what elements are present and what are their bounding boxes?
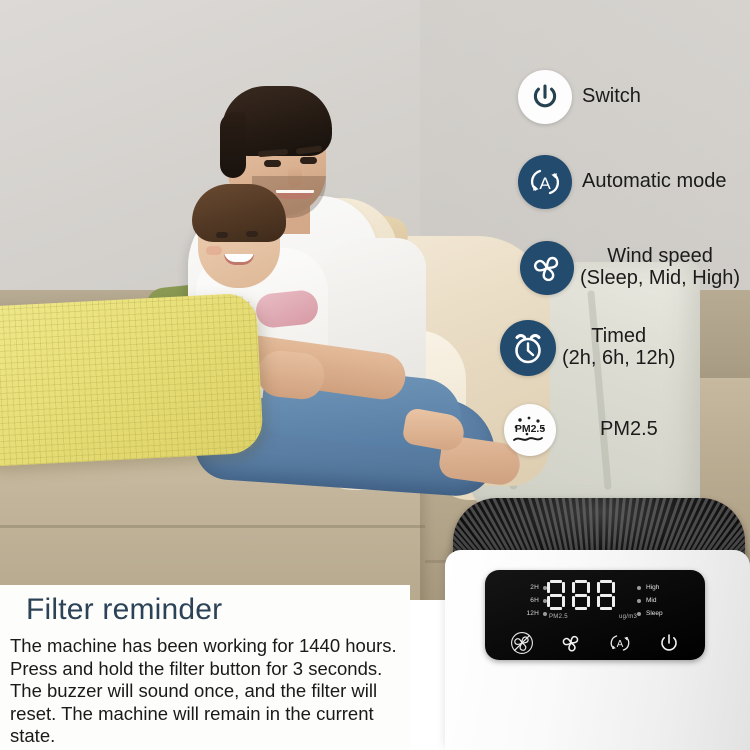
power-button[interactable] bbox=[657, 631, 681, 655]
feature-switch-title: Switch bbox=[582, 85, 641, 107]
speed-indicator-group: High Mid Sleep bbox=[637, 581, 693, 620]
feature-pm25-label: PM2.5 bbox=[600, 419, 658, 441]
auto-mode-icon: A bbox=[608, 631, 632, 655]
pm25-digital-display bbox=[547, 580, 615, 610]
display-segment bbox=[547, 596, 550, 607]
alarm-clock-icon bbox=[500, 320, 556, 376]
timer-indicator-6h[interactable]: 6H bbox=[499, 594, 547, 607]
display-segment bbox=[600, 607, 612, 610]
fan-icon bbox=[520, 241, 574, 295]
display-segment bbox=[575, 580, 587, 583]
feature-automatic-mode-title: Automatic mode bbox=[582, 170, 727, 192]
feature-wind-speed-title: Wind speed bbox=[607, 245, 713, 267]
feature-switch: Switch bbox=[518, 70, 641, 124]
display-segment bbox=[587, 596, 590, 607]
filter-reminder-panel: Filter reminder The machine has been wor… bbox=[0, 585, 410, 750]
speed-label-mid: Mid bbox=[646, 597, 656, 604]
filter-reminder-text: The machine has been working for 1440 ho… bbox=[10, 635, 406, 748]
air-purifier: 2H 6H 12H PM2.5 ug/m3 High bbox=[445, 498, 750, 750]
speed-label-high: High bbox=[646, 584, 659, 591]
display-segment bbox=[587, 582, 590, 593]
display-segment bbox=[572, 582, 575, 593]
feature-pm25: PM2.5 PM2.5 bbox=[504, 404, 658, 456]
feature-switch-label: Switch bbox=[582, 86, 641, 108]
speed-led-high bbox=[637, 586, 641, 590]
display-label-unit: ug/m3 bbox=[619, 614, 637, 620]
display-segment bbox=[612, 596, 615, 607]
display-digit bbox=[572, 580, 590, 610]
display-segment bbox=[562, 596, 565, 607]
feature-timed: Timed (2h, 6h, 12h) bbox=[500, 320, 675, 376]
display-segment bbox=[572, 596, 575, 607]
infographic-canvas: Switch A Automatic mode bbox=[0, 0, 750, 750]
display-segment bbox=[612, 582, 615, 593]
display-segment bbox=[575, 607, 587, 610]
sofa-seam bbox=[0, 525, 425, 528]
speed-led-mid bbox=[637, 599, 641, 603]
boy-eye-right bbox=[246, 231, 258, 237]
speed-indicator-mid[interactable]: Mid bbox=[637, 594, 693, 607]
display-segment bbox=[597, 596, 600, 607]
display-segment bbox=[550, 594, 562, 597]
control-panel[interactable]: 2H 6H 12H PM2.5 ug/m3 High bbox=[485, 570, 705, 660]
speed-indicator-sleep[interactable]: Sleep bbox=[637, 607, 693, 620]
boy-cheek bbox=[206, 246, 222, 255]
man-eye-left bbox=[264, 160, 281, 167]
display-segment bbox=[562, 582, 565, 593]
feature-timed-label: Timed (2h, 6h, 12h) bbox=[562, 326, 675, 369]
feature-wind-speed-label: Wind speed (Sleep, Mid, High) bbox=[580, 246, 740, 289]
display-segment bbox=[550, 580, 562, 583]
display-segment bbox=[547, 582, 550, 593]
boy-eye-left bbox=[216, 232, 228, 238]
timer-indicator-group: 2H 6H 12H bbox=[499, 581, 547, 620]
yellow-knit-pillow bbox=[0, 293, 264, 468]
feature-wind-speed: Wind speed (Sleep, Mid, High) bbox=[520, 241, 740, 295]
power-icon bbox=[657, 631, 681, 655]
svg-text:A: A bbox=[616, 639, 623, 650]
filter-reset-button[interactable] bbox=[510, 631, 534, 655]
feature-automatic-mode-label: Automatic mode bbox=[582, 171, 727, 193]
display-label-pm25: PM2.5 bbox=[549, 614, 568, 620]
touch-button-row: A bbox=[485, 626, 705, 660]
display-segment bbox=[600, 580, 612, 583]
display-segment bbox=[575, 594, 587, 597]
boy-hair bbox=[192, 184, 286, 242]
filter-reset-icon bbox=[510, 631, 534, 655]
fan-icon bbox=[559, 631, 583, 655]
timer-indicator-2h[interactable]: 2H bbox=[499, 581, 547, 594]
timer-label-2h: 2H bbox=[530, 584, 539, 591]
feature-pm25-title: PM2.5 bbox=[600, 418, 658, 440]
timer-label-12h: 12H bbox=[526, 610, 539, 617]
feature-automatic-mode: A Automatic mode bbox=[518, 155, 727, 209]
fan-speed-button[interactable] bbox=[559, 631, 583, 655]
display-segment bbox=[597, 582, 600, 593]
speed-indicator-high[interactable]: High bbox=[637, 581, 693, 594]
display-digit bbox=[597, 580, 615, 610]
svg-text:A: A bbox=[539, 174, 551, 193]
timer-label-6h: 6H bbox=[530, 597, 539, 604]
feature-timed-title: Timed bbox=[591, 325, 646, 347]
feature-wind-speed-sub: (Sleep, Mid, High) bbox=[580, 268, 740, 290]
timer-led-12h bbox=[543, 612, 547, 616]
man-nose bbox=[288, 166, 302, 188]
feature-timed-sub: (2h, 6h, 12h) bbox=[562, 348, 675, 370]
display-segment bbox=[600, 594, 612, 597]
display-digit bbox=[547, 580, 565, 610]
man-mouth bbox=[276, 190, 314, 199]
pm25-icon-text: PM2.5 bbox=[515, 423, 546, 435]
page-title: Filter reminder bbox=[26, 593, 222, 627]
speed-led-sleep bbox=[637, 612, 641, 616]
man-sideburn bbox=[220, 112, 246, 178]
timer-indicator-12h[interactable]: 12H bbox=[499, 607, 547, 620]
auto-mode-button[interactable]: A bbox=[608, 631, 632, 655]
pm25-icon: PM2.5 bbox=[504, 404, 556, 456]
auto-mode-icon: A bbox=[518, 155, 572, 209]
speed-label-sleep: Sleep bbox=[646, 610, 663, 617]
display-segment bbox=[550, 607, 562, 610]
power-icon bbox=[518, 70, 572, 124]
man-eye-right bbox=[300, 157, 317, 164]
